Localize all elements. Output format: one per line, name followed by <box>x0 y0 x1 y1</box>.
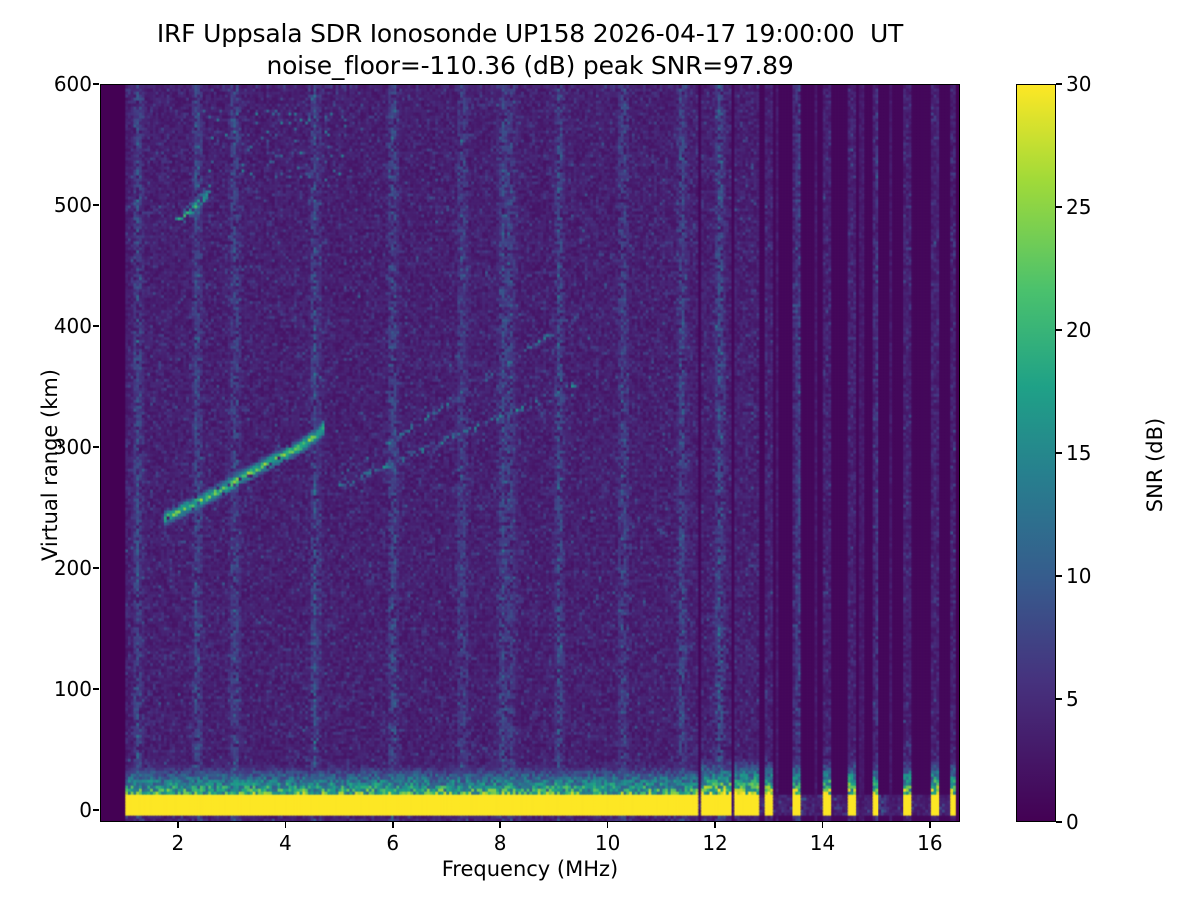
y-tick-mark <box>93 83 99 85</box>
x-tick-mark <box>929 822 931 828</box>
x-tick-label: 4 <box>279 831 292 855</box>
colorbar-tick-mark <box>1056 698 1062 700</box>
y-tick-label: 600 <box>54 72 92 96</box>
colorbar-tick-label: 30 <box>1066 72 1091 96</box>
x-tick-mark <box>499 822 501 828</box>
y-tick-mark <box>93 688 99 690</box>
colorbar-tick-label: 25 <box>1066 195 1091 219</box>
figure-title: IRF Uppsala SDR Ionosonde UP158 2026-04-… <box>0 18 1060 82</box>
y-tick-label: 100 <box>54 677 92 701</box>
y-tick-mark <box>93 204 99 206</box>
x-tick-label: 16 <box>917 831 942 855</box>
colorbar-tick-mark <box>1056 83 1062 85</box>
colorbar-label: SNR (dB) <box>1143 315 1167 615</box>
y-tick-label: 500 <box>54 193 92 217</box>
ionogram-figure: IRF Uppsala SDR Ionosonde UP158 2026-04-… <box>0 0 1200 900</box>
colorbar-tick-mark <box>1056 206 1062 208</box>
x-tick-mark <box>607 822 609 828</box>
colorbar-tick-label: 20 <box>1066 318 1091 342</box>
ionogram-heatmap <box>101 85 959 821</box>
x-tick-label: 8 <box>494 831 507 855</box>
x-tick-mark <box>392 822 394 828</box>
y-tick-label: 0 <box>79 798 92 822</box>
ionogram-plot-area[interactable] <box>100 84 960 822</box>
x-tick-label: 2 <box>172 831 185 855</box>
colorbar-tick-label: 0 <box>1066 810 1079 834</box>
colorbar[interactable] <box>1016 84 1056 822</box>
colorbar-tick-mark <box>1056 329 1062 331</box>
x-tick-label: 6 <box>386 831 399 855</box>
x-tick-mark <box>714 822 716 828</box>
y-tick-mark <box>93 446 99 448</box>
y-tick-mark <box>93 809 99 811</box>
y-axis-label: Virtual range (km) <box>38 315 62 615</box>
colorbar-tick-label: 5 <box>1066 687 1079 711</box>
title-line-2: noise_floor=-110.36 (dB) peak SNR=97.89 <box>0 50 1060 82</box>
title-line-1: IRF Uppsala SDR Ionosonde UP158 2026-04-… <box>0 18 1060 50</box>
y-tick-mark <box>93 567 99 569</box>
colorbar-tick-mark <box>1056 575 1062 577</box>
colorbar-tick-mark <box>1056 452 1062 454</box>
x-tick-mark <box>822 822 824 828</box>
colorbar-tick-label: 15 <box>1066 441 1091 465</box>
x-tick-mark <box>285 822 287 828</box>
y-tick-mark <box>93 325 99 327</box>
x-tick-label: 12 <box>702 831 727 855</box>
colorbar-tick-label: 10 <box>1066 564 1091 588</box>
x-tick-mark <box>177 822 179 828</box>
x-tick-label: 14 <box>810 831 835 855</box>
x-axis-label: Frequency (MHz) <box>100 857 960 881</box>
x-tick-label: 10 <box>595 831 620 855</box>
colorbar-tick-mark <box>1056 821 1062 823</box>
